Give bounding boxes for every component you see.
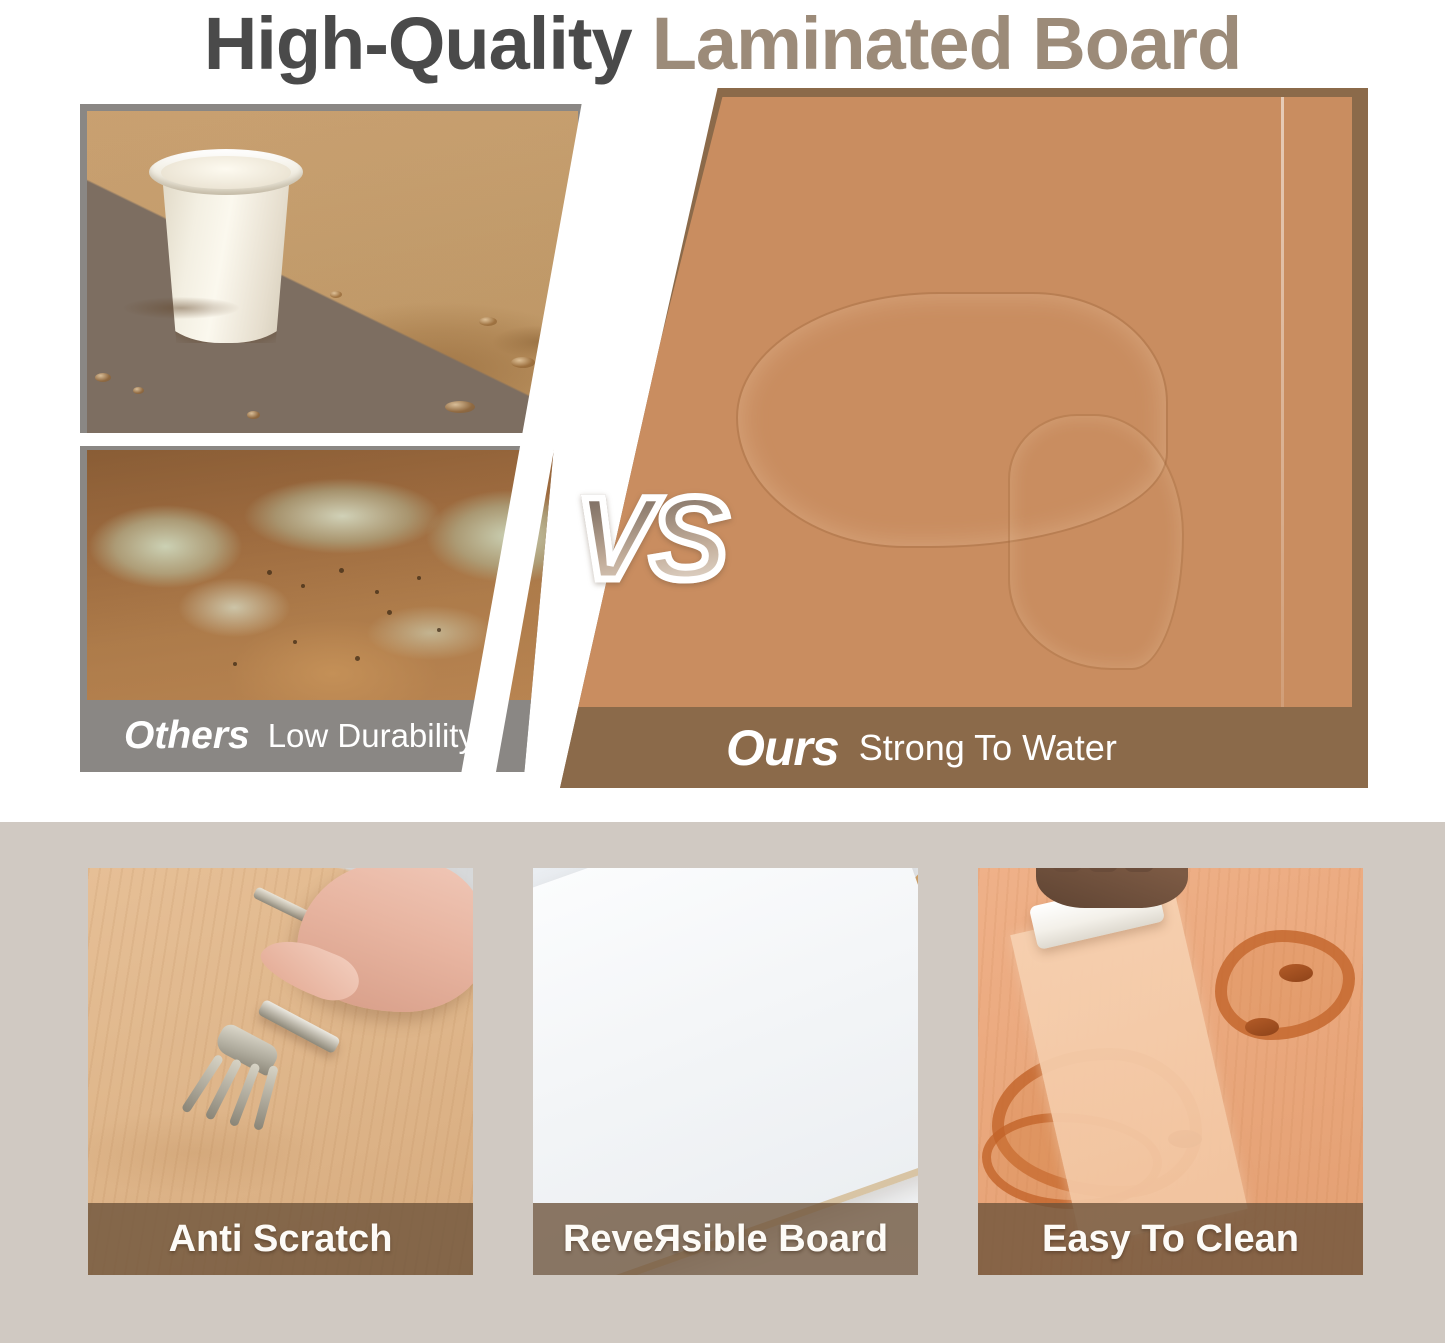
- spill-droplet: [511, 357, 535, 368]
- spill-droplet: [95, 373, 111, 382]
- others-label-main: Others: [124, 714, 250, 758]
- sauce-stain: [1215, 930, 1355, 1040]
- spill-droplet: [479, 317, 497, 326]
- feature-card-easy-to-clean: Easy To Clean: [978, 868, 1363, 1275]
- ours-label-bar: Ours Strong To Water: [560, 708, 1368, 788]
- mold-spore: [437, 628, 441, 632]
- spill-droplet: [445, 401, 475, 413]
- coffee-spill-image: [87, 111, 578, 441]
- features-section: Anti Scratch ReveЯsible Board Easy To: [0, 822, 1445, 1343]
- water-beading-image: [560, 97, 1360, 707]
- mold-spore: [417, 576, 421, 580]
- spill-droplet: [330, 291, 342, 298]
- feature-label-easy-to-clean: Easy To Clean: [978, 1203, 1363, 1275]
- finger: [1124, 868, 1154, 872]
- ours-panel: Ours Strong To Water: [560, 88, 1368, 788]
- spill-droplet: [133, 387, 144, 394]
- ours-label-sub: Strong To Water: [859, 727, 1117, 769]
- feature-card-anti-scratch: Anti Scratch: [88, 868, 473, 1275]
- mold-spore: [339, 568, 344, 573]
- page-title-primary: High-Quality: [204, 7, 632, 81]
- comparison-section: Others Low Durability Ours Strong To Wat…: [0, 88, 1445, 808]
- finger: [1088, 868, 1118, 872]
- feature-card-reversible-board: ReveЯsible Board: [533, 868, 918, 1275]
- page-title-secondary: Laminated Board: [652, 7, 1241, 81]
- ours-label-main: Ours: [726, 719, 839, 777]
- sauce-chunk: [1279, 964, 1313, 982]
- feature-card-row: Anti Scratch ReveЯsible Board Easy To: [88, 868, 1363, 1275]
- finger: [1052, 868, 1082, 872]
- mold-spore: [301, 584, 305, 588]
- spill-droplet: [247, 411, 260, 419]
- vs-badge: VS: [575, 480, 724, 598]
- mold-spore: [375, 590, 379, 594]
- mold-spore: [387, 610, 392, 615]
- mold-spore: [355, 656, 360, 661]
- water-puddle-runoff: [1008, 414, 1184, 670]
- feature-label-anti-scratch: Anti Scratch: [88, 1203, 473, 1275]
- mold-spore: [293, 640, 297, 644]
- cup-interior: [161, 156, 291, 189]
- sauce-chunk: [1245, 1018, 1279, 1036]
- page-title: High-Quality Laminated Board: [0, 0, 1445, 88]
- feature-label-reversible-board: ReveЯsible Board: [533, 1203, 918, 1275]
- others-label-sub: Low Durability: [268, 717, 475, 755]
- cup-shadow: [123, 297, 239, 319]
- others-label-bar: Others Low Durability: [80, 700, 585, 772]
- horizontal-divider: [80, 433, 592, 446]
- mold-spore: [233, 662, 237, 666]
- board-edge-highlight: [1281, 97, 1284, 707]
- mold-spore: [267, 570, 272, 575]
- hand-holding-cloth: [1036, 868, 1188, 908]
